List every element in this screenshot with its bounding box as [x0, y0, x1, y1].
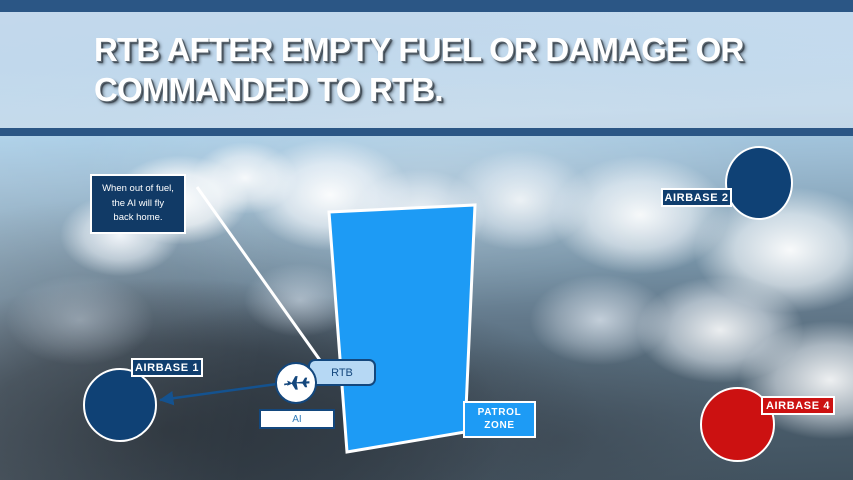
patrol-zone-label: PATROL ZONE [463, 401, 536, 438]
airbase-1-label: AIRBASE 1 [131, 358, 203, 377]
ai-aircraft-marker[interactable] [275, 362, 317, 404]
fighter-jet-icon [282, 371, 310, 395]
slide-canvas: RTB AFTER EMPTY FUEL OR DAMAGE OR COMMAN… [0, 0, 853, 480]
airbase-1-marker[interactable] [83, 368, 157, 442]
airbase-4-label: AIRBASE 4 [761, 396, 835, 415]
header-bottom-accent-bar [0, 128, 853, 136]
airbase-2-label: AIRBASE 2 [661, 188, 732, 207]
ai-name-label: AI [259, 409, 335, 429]
callout-out-of-fuel: When out of fuel, the AI will fly back h… [90, 174, 186, 234]
page-title: RTB AFTER EMPTY FUEL OR DAMAGE OR COMMAN… [94, 30, 794, 111]
airbase-2-marker[interactable] [725, 146, 793, 220]
rtb-state-badge[interactable]: RTB [308, 359, 376, 386]
header-top-accent-bar [0, 0, 853, 12]
